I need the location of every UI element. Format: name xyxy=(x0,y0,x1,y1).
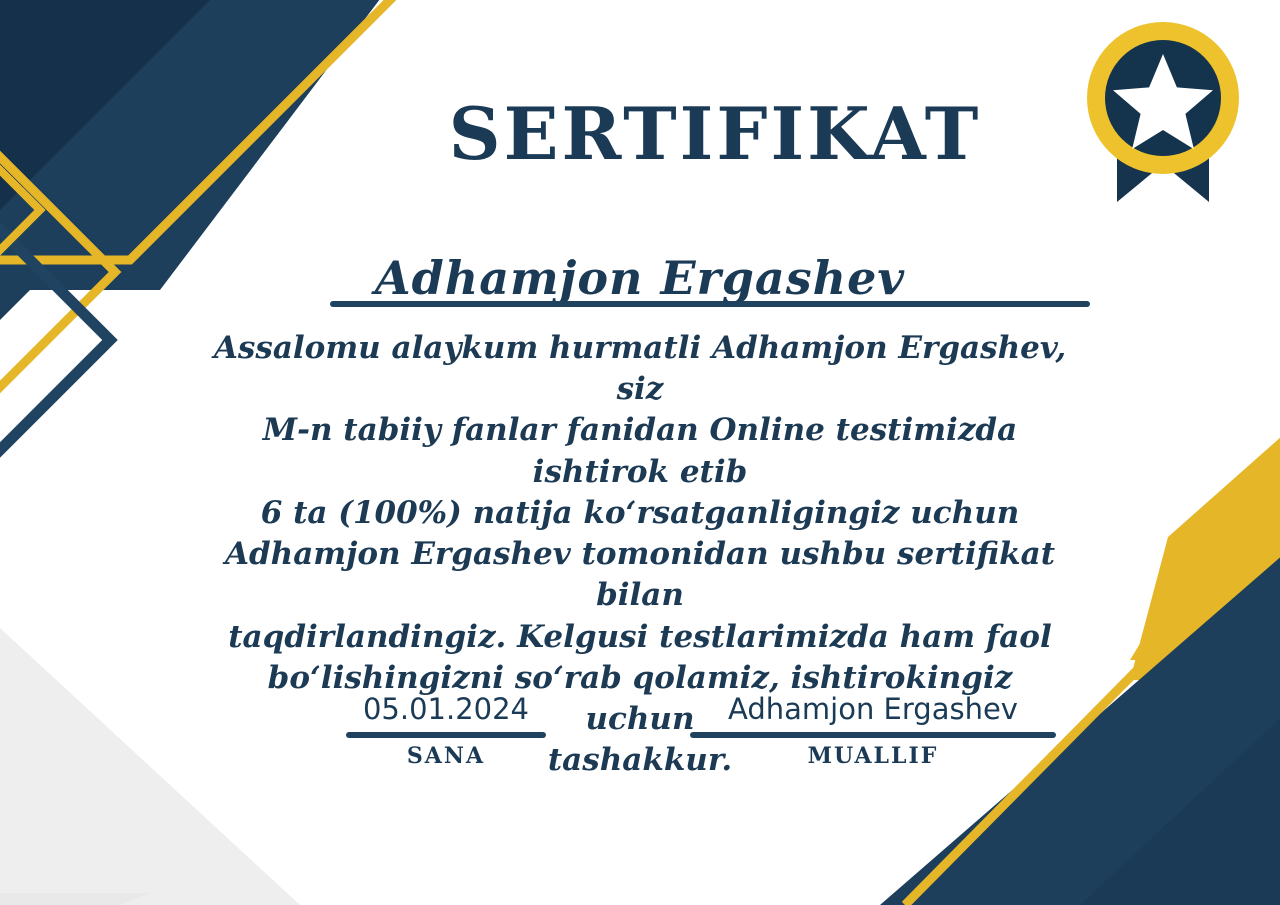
author-rule xyxy=(690,732,1056,738)
certificate-page: SERTIFIKAT Adhamjon Ergashev Assalomu al… xyxy=(0,0,1280,905)
author-value: Adhamjon Ergashev xyxy=(690,694,1056,726)
signature-block-author: Adhamjon Ergashev MUALLIF xyxy=(690,694,1056,769)
date-value: 05.01.2024 xyxy=(346,694,546,726)
certificate-content: SERTIFIKAT Adhamjon Ergashev Assalomu al… xyxy=(0,0,1280,905)
author-label: MUALLIF xyxy=(690,743,1056,769)
signature-block-date: 05.01.2024 SANA xyxy=(346,694,546,769)
page-title: SERTIFIKAT xyxy=(0,98,1280,170)
recipient-name: Adhamjon Ergashev xyxy=(0,254,1280,302)
date-label: SANA xyxy=(346,743,546,769)
recipient-name-rule xyxy=(330,301,1090,307)
date-rule xyxy=(346,732,546,738)
